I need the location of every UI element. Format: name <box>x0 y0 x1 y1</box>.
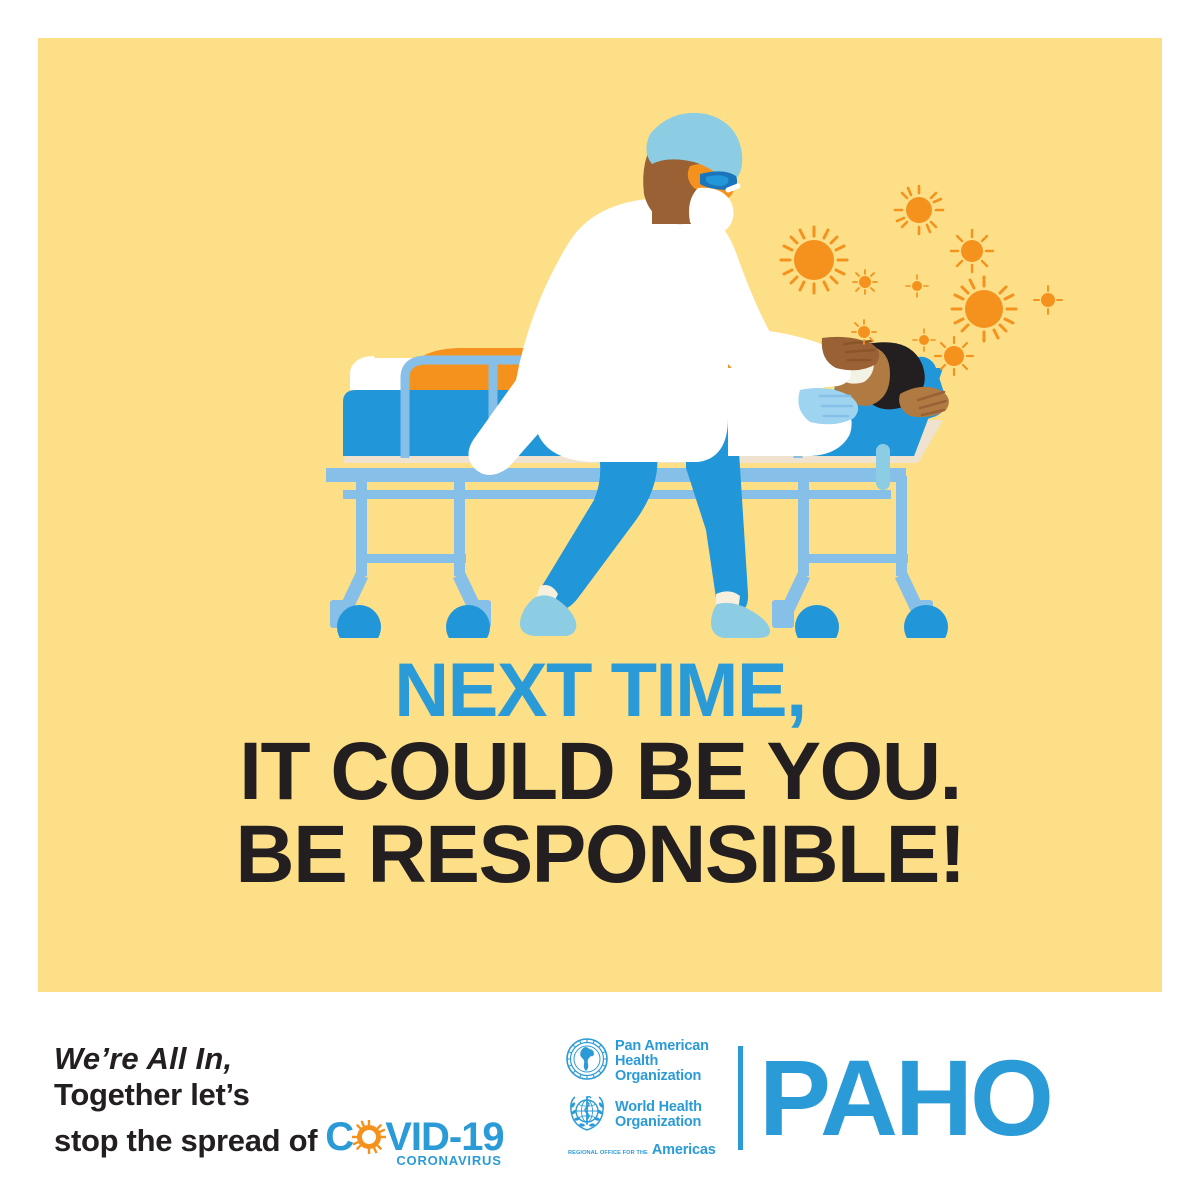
organization-emblems: Pan American Health Organization <box>566 1038 726 1158</box>
who-name-line-1: World Health <box>615 1100 702 1115</box>
paho-organization-name: Pan American Health Organization <box>615 1039 709 1083</box>
regional-office-row: REGIONAL OFFICE FOR THE Americas <box>568 1142 726 1158</box>
headline-line-3: BE RESPONSIBLE! <box>38 815 1162 895</box>
illustration-healthcare-worker-and-patient <box>38 38 1162 638</box>
virus-particle <box>913 329 935 351</box>
paho-name-line-2: Health <box>615 1054 709 1069</box>
region-name: Americas <box>652 1142 716 1158</box>
covid-virus-o-icon <box>352 1120 386 1154</box>
worker-leg-left <box>540 438 658 611</box>
pan-american-health-organization-emblem-icon <box>566 1038 608 1085</box>
worker-leg-right <box>686 436 748 614</box>
campaign-tagline: We’re All In, Together let’s stop the sp… <box>54 1042 554 1169</box>
logo-divider <box>738 1046 743 1150</box>
covid-19-logo: C <box>325 1113 503 1168</box>
headline-block: NEXT TIME, IT COULD BE YOU. BE RESPONSIB… <box>38 654 1162 895</box>
paho-name-line-3: Organization <box>615 1069 709 1084</box>
paho-wordmark: PAHO <box>759 1054 1051 1143</box>
covid-letter-c: C <box>325 1117 353 1157</box>
tagline-line-3-row: stop the spread of C <box>54 1113 554 1168</box>
regional-office-label: REGIONAL OFFICE FOR THE <box>568 1150 648 1158</box>
poster-main-panel: NEXT TIME, IT COULD BE YOU. BE RESPONSIB… <box>38 38 1162 992</box>
paho-logo-lockup: Pan American Health Organization <box>566 1038 1051 1158</box>
virus-particle <box>906 275 928 297</box>
tagline-line-2: Together let’s <box>54 1077 554 1114</box>
virus-particle <box>951 230 993 272</box>
paho-name-line-1: Pan American <box>615 1039 709 1054</box>
who-name-line-2: Organization <box>615 1115 702 1130</box>
who-organization-name: World Health Organization <box>615 1100 702 1130</box>
covid-19-wordmark-row: C <box>325 1119 503 1155</box>
virus-particle <box>781 227 847 293</box>
virus-particle <box>1034 286 1062 314</box>
tagline-line-3: stop the spread of <box>54 1123 317 1160</box>
virus-particle <box>935 337 973 375</box>
poster-footer: We’re All In, Together let’s stop the sp… <box>0 992 1200 1200</box>
poster-canvas: NEXT TIME, IT COULD BE YOU. BE RESPONSIB… <box>0 0 1200 1200</box>
virus-particle <box>853 270 877 294</box>
paho-emblem-row: Pan American Health Organization <box>566 1038 726 1085</box>
virus-particle <box>952 277 1016 341</box>
who-emblem-row: World Health Organization <box>566 1091 726 1138</box>
virus-particle <box>895 186 943 234</box>
tagline-line-1: We’re All In, <box>54 1042 554 1077</box>
gurney-side-handle <box>876 444 890 490</box>
headline-line-1: NEXT TIME, <box>38 654 1162 728</box>
covid-suffix: VID-19 <box>385 1117 504 1157</box>
headline-line-2: IT COULD BE YOU. <box>38 732 1162 812</box>
worker-shoe-right <box>711 603 770 638</box>
world-health-organization-emblem-icon <box>566 1091 608 1138</box>
caster-wheel <box>795 605 839 638</box>
